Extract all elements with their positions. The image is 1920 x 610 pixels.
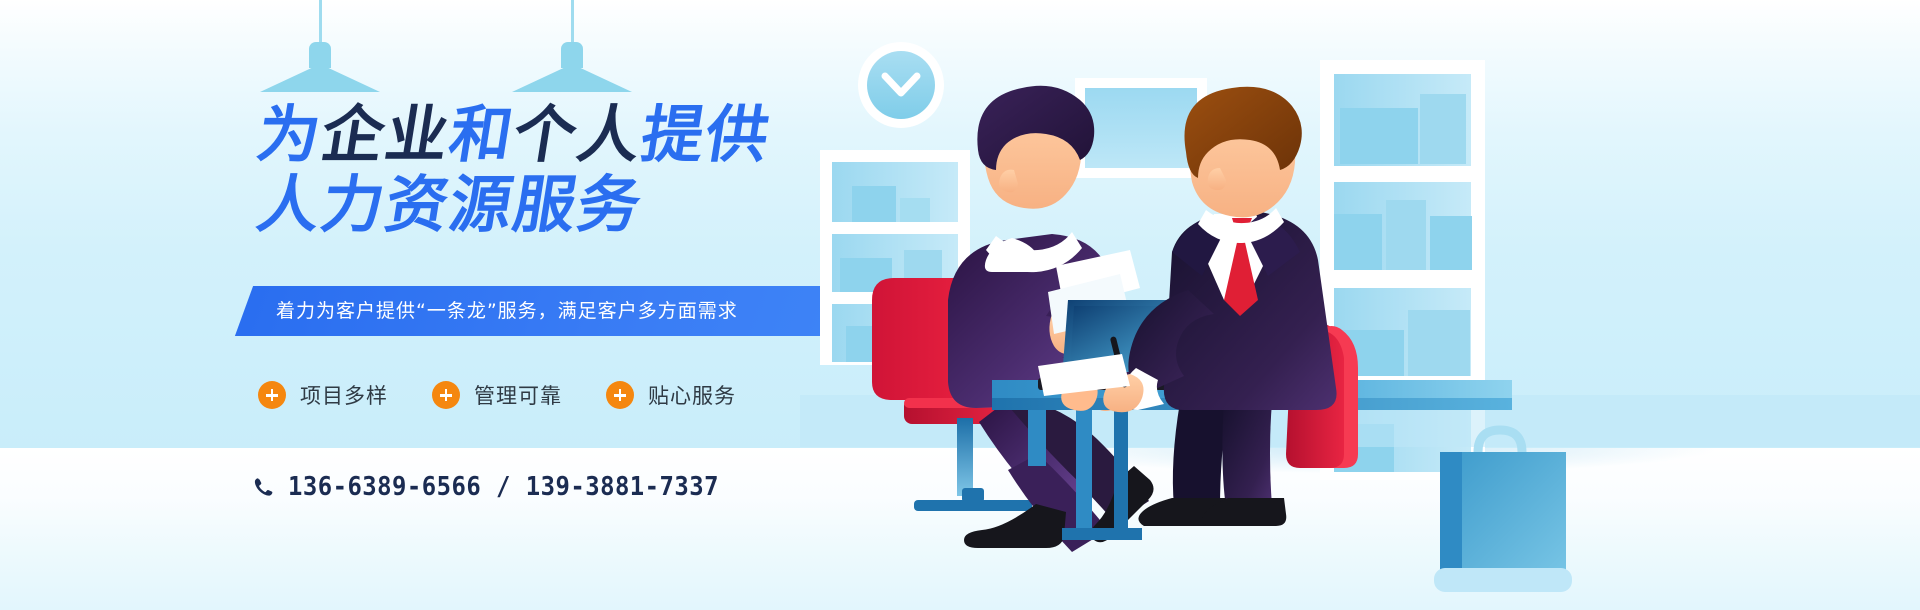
headline-seg: 和 bbox=[444, 100, 519, 170]
office-scene-svg bbox=[800, 0, 1920, 610]
office-illustration bbox=[800, 0, 1920, 610]
subtitle-text: 着力为客户提供“一条龙”服务，满足客户多方面需求 bbox=[276, 286, 738, 336]
feature-label: 贴心服务 bbox=[648, 380, 736, 410]
headline-seg: 人力资源服务 bbox=[252, 170, 647, 240]
feature-list: 项目多样 管理可靠 贴心服务 bbox=[258, 380, 736, 410]
wall-clock bbox=[858, 42, 944, 128]
headline-seg: 提供 bbox=[637, 100, 776, 170]
headline-seg: 企业 bbox=[316, 100, 455, 170]
feature-label: 管理可靠 bbox=[474, 380, 562, 410]
phone-number: 136-6389-6566 / 139-3881-7337 bbox=[288, 472, 719, 502]
plus-icon bbox=[606, 381, 634, 409]
headline-seg: 个人 bbox=[509, 100, 648, 170]
feature-item[interactable]: 管理可靠 bbox=[432, 380, 562, 410]
feature-item[interactable]: 项目多样 bbox=[258, 380, 388, 410]
hero-banner: 为企业和个人提供 人力资源服务 着力为客户提供“一条龙”服务，满足客户多方面需求… bbox=[0, 0, 1920, 610]
briefcase bbox=[1434, 430, 1572, 592]
copy-column: 为企业和个人提供 人力资源服务 着力为客户提供“一条龙”服务，满足客户多方面需求… bbox=[0, 0, 940, 610]
plus-icon bbox=[432, 381, 460, 409]
phone-icon bbox=[252, 476, 274, 498]
headline-seg: 为 bbox=[252, 100, 327, 170]
contact-row[interactable]: 136-6389-6566 / 139-3881-7337 bbox=[252, 472, 756, 502]
feature-item[interactable]: 贴心服务 bbox=[606, 380, 736, 410]
feature-label: 项目多样 bbox=[300, 380, 388, 410]
plus-icon bbox=[258, 381, 286, 409]
